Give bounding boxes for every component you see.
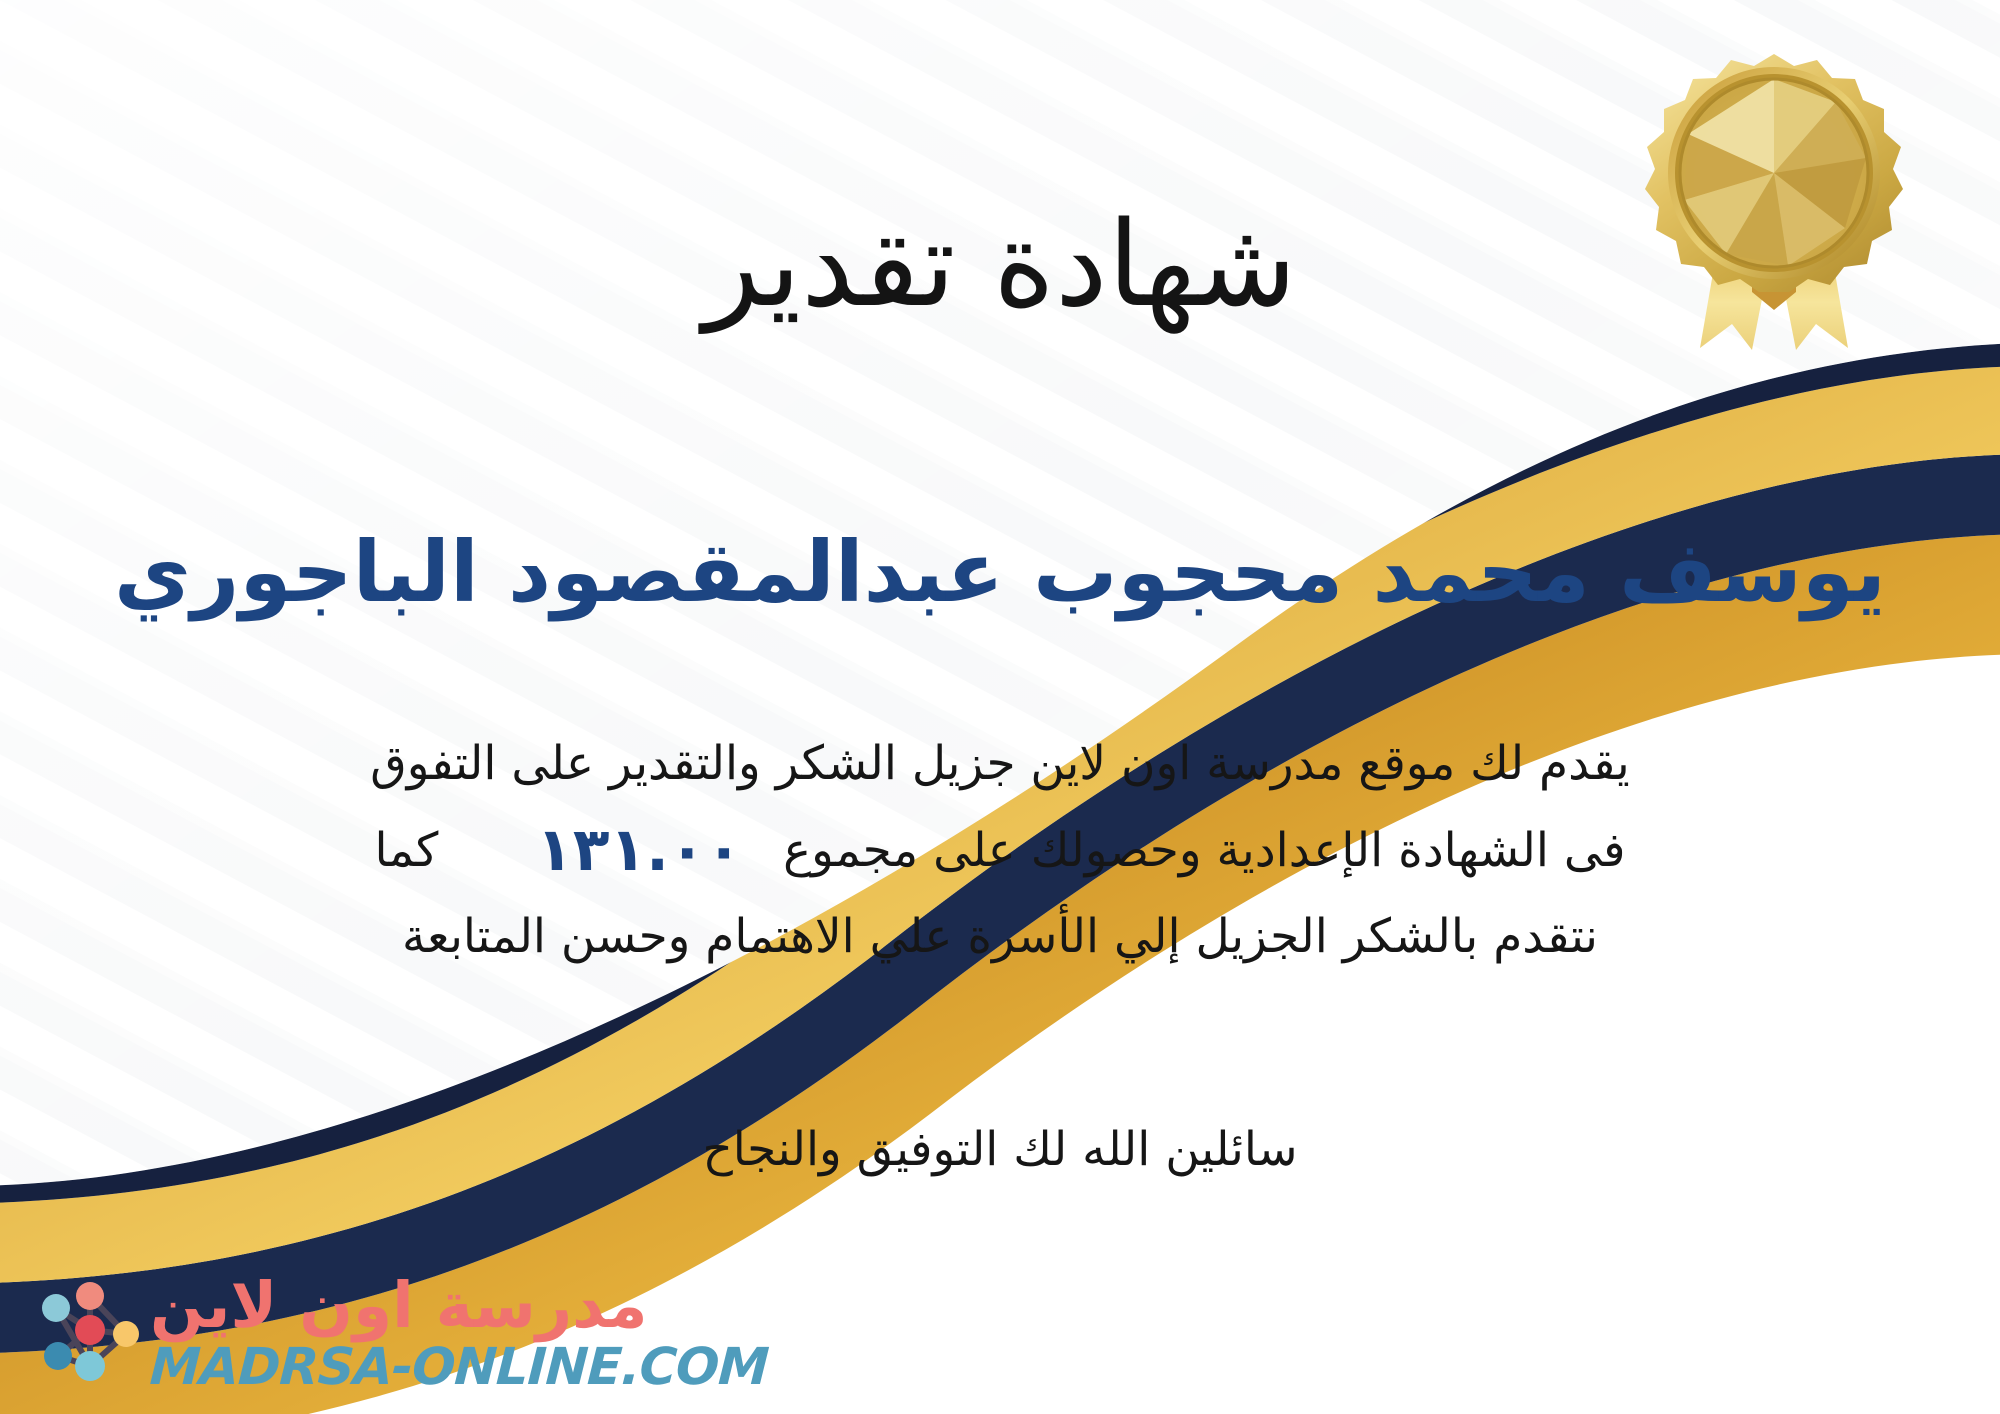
node-dark-blue (44, 1342, 72, 1370)
medal-rosette (1645, 54, 1903, 292)
node-light-blue-top (42, 1294, 70, 1322)
node-red (75, 1315, 105, 1345)
certificate-body: يقدم لك موقع مدرسة اون لاين جزيل الشكر و… (60, 726, 1940, 975)
brand-text: مدرسة اون لاين MADRSA-ONLINE.COM (150, 1273, 768, 1396)
recipient-name: يوسف محمد محجوب عبدالمقصود الباجوري (0, 522, 2000, 623)
brand-logo: مدرسة اون لاين MADRSA-ONLINE.COM (34, 1273, 768, 1396)
node-light-blue-bottom (75, 1351, 105, 1381)
node-yellow (113, 1321, 139, 1347)
body-line-2: فى الشهادة الإعدادية وحصولك على مجموع ١٣… (60, 802, 1940, 899)
gold-award-medal-icon (1640, 48, 1908, 360)
grade-total-value: ١٣١.٠٠ (510, 815, 768, 885)
network-nodes-icon (34, 1278, 142, 1390)
certificate-page: شهادة تقدير يوسف محمد محجوب عبدالمقصود ا… (0, 0, 2000, 1414)
brand-domain: MADRSA-ONLINE.COM (149, 1339, 770, 1396)
brand-name-arabic: مدرسة اون لاين (150, 1273, 647, 1339)
body-line-2-text: فى الشهادة الإعدادية وحصولك على مجموع (783, 823, 1625, 878)
node-salmon (76, 1282, 104, 1310)
body-line-1: يقدم لك موقع مدرسة اون لاين جزيل الشكر و… (60, 726, 1940, 802)
body-line-2-suffix: كما (374, 823, 438, 878)
body-line-3: نتقدم بالشكر الجزيل إلي الأسرة علي الاهت… (60, 899, 1940, 975)
closing-line: سائلين الله لك التوفيق والنجاح (0, 1115, 2000, 1186)
